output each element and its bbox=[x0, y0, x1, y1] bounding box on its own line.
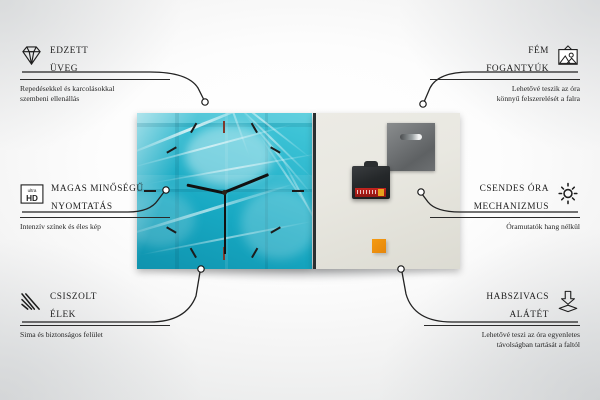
feature-desc-1: Lehetővé teszi az óra egyenletes bbox=[424, 330, 580, 340]
feature-tempered-glass[interactable]: EDZETT ÜVEG Repedésekkel és karcolásokka… bbox=[20, 40, 170, 103]
divider bbox=[424, 325, 580, 326]
feature-title: HABSZIVACS bbox=[486, 292, 549, 302]
feature-polished-edges[interactable]: CSISZOLT ÉLEK Sima és biztonságos felüle… bbox=[20, 286, 170, 340]
feature-metal-handles[interactable]: FÉM FOGANTYÚK Lehetővé teszik az óra kön… bbox=[430, 40, 580, 103]
feature-title: MAGAS MINŐSÉGŰ bbox=[51, 184, 144, 194]
feature-desc-2: távolságban tartását a faltól bbox=[424, 340, 580, 350]
foam-pad-icon bbox=[556, 290, 580, 318]
divider bbox=[20, 217, 170, 218]
feature-hd-print[interactable]: ultra HD MAGAS MINŐSÉGŰ NYOMTATÁS Intenz… bbox=[20, 178, 170, 232]
feature-desc-1: Óramutatók hang nélkül bbox=[430, 222, 580, 232]
feature-title: EDZETT bbox=[50, 46, 88, 56]
clock-mechanism bbox=[352, 166, 390, 199]
feature-foam-pad[interactable]: HABSZIVACS ALÁTÉT Lehetővé teszi az óra … bbox=[424, 286, 580, 349]
second-hand bbox=[224, 192, 226, 254]
feature-desc-1: Repedésekkel és karcolásokkal bbox=[20, 84, 170, 94]
mechanism-tab-icon bbox=[364, 161, 378, 167]
divider bbox=[20, 79, 170, 80]
connector-dot-metal-handles bbox=[420, 101, 426, 107]
feature-desc-1: Lehetővé teszik az óra bbox=[430, 84, 580, 94]
infographic-canvas: EDZETT ÜVEG Repedésekkel és karcolásokka… bbox=[0, 0, 600, 400]
diamond-icon bbox=[20, 45, 43, 71]
feature-title-2: ALÁTÉT bbox=[510, 310, 549, 320]
divider bbox=[430, 79, 580, 80]
feature-title-2: ÜVEG bbox=[50, 64, 78, 74]
feature-desc-2: könnyű felszerelését a falra bbox=[430, 94, 580, 104]
feature-title-2: FOGANTYÚK bbox=[486, 64, 549, 74]
clock-hub bbox=[222, 190, 227, 195]
divider bbox=[430, 217, 580, 218]
connector-dot-tempered-glass bbox=[202, 99, 208, 105]
polished-edge-icon bbox=[20, 292, 43, 317]
foam-pad bbox=[372, 239, 386, 253]
feature-desc-1: Intenzív színek és éles kép bbox=[20, 222, 170, 232]
feature-title: CSENDES ÓRA bbox=[480, 184, 549, 194]
feature-desc-2: szembeni ellenállás bbox=[20, 94, 170, 104]
feature-title-2: ÉLEK bbox=[50, 310, 76, 320]
feature-title-2: NYOMTATÁS bbox=[51, 202, 113, 212]
ultra-hd-icon: ultra HD bbox=[20, 184, 44, 209]
hanger-slot-icon bbox=[400, 134, 422, 140]
product-image bbox=[137, 113, 457, 269]
feature-silent-mechanism[interactable]: CSENDES ÓRA MECHANIZMUS Óramutatók hang … bbox=[430, 178, 580, 232]
gear-icon bbox=[556, 182, 580, 210]
svg-text:HD: HD bbox=[26, 193, 38, 202]
metal-hanger bbox=[387, 123, 435, 171]
svg-text:ultra: ultra bbox=[28, 188, 37, 193]
feature-title: FÉM bbox=[528, 46, 549, 56]
picture-hanger-icon bbox=[556, 45, 580, 72]
feature-title-2: MECHANIZMUS bbox=[474, 202, 549, 212]
divider bbox=[20, 325, 170, 326]
battery bbox=[355, 188, 386, 197]
feature-title: CSISZOLT bbox=[50, 292, 97, 302]
feature-desc-1: Sima és biztonságos felület bbox=[20, 330, 170, 340]
